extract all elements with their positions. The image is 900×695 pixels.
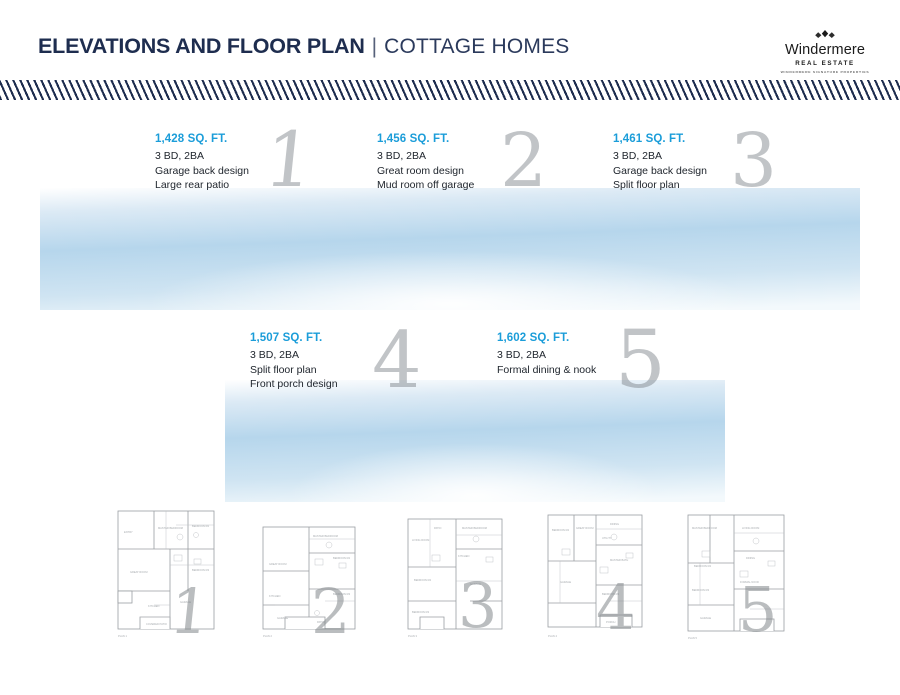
logo-name: Windermere [770, 42, 880, 58]
svg-text:PLAN 1: PLAN 1 [118, 634, 127, 638]
plan-spec-5-0: 3 BD, 2BA [497, 348, 596, 363]
svg-text:GARAGE: GARAGE [700, 616, 711, 620]
plan-info-3: 1,461 SQ. FT. 3 BD, 2BA Garage back desi… [613, 133, 707, 193]
svg-text:MASTER BEDROOM: MASTER BEDROOM [462, 526, 487, 530]
logo-tagline: WINDERMERE SIGNATURE PROPERTIES [770, 70, 880, 74]
page-header: ELEVATIONS AND FLOOR PLAN | COTTAGE HOME… [0, 0, 900, 80]
floor-plan-thumb-2[interactable]: MASTER BEDROOM BEDROOM #2 BEDROOM #3 GRE… [255, 505, 375, 645]
svg-text:BEDROOM #2: BEDROOM #2 [552, 528, 570, 532]
svg-text:PLAN 5: PLAN 5 [688, 636, 697, 640]
elevation-row-1: 1,428 SQ. FT. 3 BD, 2BA Garage back desi… [0, 110, 900, 315]
elevation-images-row-1 [40, 188, 860, 310]
svg-text:FORMAL NOOK: FORMAL NOOK [740, 580, 759, 584]
svg-text:MASTER BATH: MASTER BATH [610, 558, 628, 562]
sky-background-2 [225, 380, 725, 502]
plan-spec-2-2: Mud room off garage [377, 178, 474, 193]
floor-plan-drawing-4: BEDROOM #2 GREAT ROOM DINING UTILITY MAS… [540, 505, 660, 645]
svg-text:BEDROOM #2: BEDROOM #2 [694, 564, 712, 568]
floor-plan-drawing-5: MASTER BEDROOM LIVING ROOM BEDROOM #2 DI… [680, 505, 800, 645]
plan-spec-4-0: 3 BD, 2BA [250, 348, 338, 363]
svg-text:BEDROOM #3: BEDROOM #3 [333, 592, 351, 596]
plan-sqft-5: 1,602 SQ. FT. [497, 332, 596, 345]
svg-text:PLAN 4: PLAN 4 [548, 634, 557, 638]
sky-background [40, 188, 860, 310]
svg-text:PLAN 3: PLAN 3 [408, 634, 417, 638]
elevation-row-2: 1,507 SQ. FT. 3 BD, 2BA Split floor plan… [0, 312, 900, 507]
svg-text:UTILITY: UTILITY [602, 536, 612, 540]
page-title-bold: ELEVATIONS AND FLOOR PLAN [38, 34, 365, 59]
plan-info-5: 1,602 SQ. FT. 3 BD, 2BA Formal dining & … [497, 332, 596, 377]
plan-spec-1-0: 3 BD, 2BA [155, 149, 249, 164]
svg-text:BEDROOM #3: BEDROOM #3 [602, 592, 620, 596]
svg-text:BEDROOM #3: BEDROOM #3 [192, 568, 210, 572]
svg-text:PLAN 2: PLAN 2 [263, 634, 272, 638]
plan-spec-1-1: Garage back design [155, 164, 249, 179]
floor-plan-thumb-4[interactable]: BEDROOM #2 GREAT ROOM DINING UTILITY MAS… [540, 505, 660, 645]
plan-spec-1-2: Large rear patio [155, 178, 249, 193]
plan-info-1: 1,428 SQ. FT. 3 BD, 2BA Garage back desi… [155, 133, 249, 193]
plan-sqft-1: 1,428 SQ. FT. [155, 133, 249, 146]
svg-text:KITCHEN: KITCHEN [458, 554, 470, 558]
floor-plan-drawing-3: PATIO MASTER BEDROOM LIVING ROOM KITCHEN… [400, 505, 520, 645]
plan-spec-5-1: Formal dining & nook [497, 363, 596, 378]
svg-text:GREAT ROOM: GREAT ROOM [130, 570, 148, 574]
svg-text:DINING: DINING [610, 522, 619, 526]
svg-text:COVERED PATIO: COVERED PATIO [146, 622, 167, 626]
svg-text:GARAGE: GARAGE [560, 580, 571, 584]
page-title-light: COTTAGE HOMES [384, 35, 569, 59]
elevation-images-row-2 [225, 380, 725, 502]
plan-info-2: 1,456 SQ. FT. 3 BD, 2BA Great room desig… [377, 133, 474, 193]
plan-numeral-2: 2 [500, 124, 547, 198]
plan-spec-3-1: Garage back design [613, 164, 707, 179]
windermere-logo: Windermere REAL ESTATE WINDERMERE SIGNAT… [770, 28, 880, 74]
plan-spec-2-0: 3 BD, 2BA [377, 149, 474, 164]
svg-text:BEDROOM #2: BEDROOM #2 [333, 556, 351, 560]
svg-text:MASTER BEDROOM: MASTER BEDROOM [692, 526, 717, 530]
plan-spec-4-1: Split floor plan [250, 363, 338, 378]
floor-plan-thumb-1[interactable]: ENTRY MASTER BEDROOM BEDROOM #2 BEDROOM … [110, 505, 230, 645]
svg-text:MASTER BEDROOM: MASTER BEDROOM [313, 534, 338, 538]
plan-info-4: 1,507 SQ. FT. 3 BD, 2BA Split floor plan… [250, 332, 338, 392]
svg-text:MASTER BEDROOM: MASTER BEDROOM [158, 526, 183, 530]
floor-plan-thumb-3[interactable]: PATIO MASTER BEDROOM LIVING ROOM KITCHEN… [400, 505, 520, 645]
svg-text:BEDROOM #3: BEDROOM #3 [692, 588, 710, 592]
svg-text:GARAGE: GARAGE [277, 616, 288, 620]
page-title: ELEVATIONS AND FLOOR PLAN | COTTAGE HOME… [38, 34, 570, 59]
svg-text:PATIO: PATIO [317, 620, 324, 624]
svg-text:GARAGE: GARAGE [470, 582, 481, 586]
svg-text:BEDROOM #2: BEDROOM #2 [192, 524, 210, 528]
svg-text:GREAT ROOM: GREAT ROOM [576, 526, 594, 530]
plan-spec-2-1: Great room design [377, 164, 474, 179]
svg-text:DINING: DINING [746, 556, 755, 560]
svg-text:KITCHEN: KITCHEN [148, 604, 160, 608]
plan-spec-3-0: 3 BD, 2BA [613, 149, 707, 164]
floor-plan-drawing-1: ENTRY MASTER BEDROOM BEDROOM #2 BEDROOM … [110, 505, 230, 645]
plan-numeral-3: 3 [730, 124, 777, 198]
floor-plan-thumb-5[interactable]: MASTER BEDROOM LIVING ROOM BEDROOM #2 DI… [680, 505, 800, 645]
svg-text:LIVING ROOM: LIVING ROOM [412, 538, 429, 542]
svg-text:BEDROOM #2: BEDROOM #2 [414, 578, 432, 582]
svg-text:GARAGE: GARAGE [180, 600, 191, 604]
diagonal-hatch-band [0, 80, 900, 100]
floor-plan-drawing-2: MASTER BEDROOM BEDROOM #2 BEDROOM #3 GRE… [255, 505, 375, 645]
floor-plan-row: ENTRY MASTER BEDROOM BEDROOM #2 BEDROOM … [0, 505, 900, 655]
plan-sqft-4: 1,507 SQ. FT. [250, 332, 338, 345]
svg-text:PORCH: PORCH [606, 620, 615, 624]
svg-text:BEDROOM #3: BEDROOM #3 [412, 610, 430, 614]
plan-sqft-2: 1,456 SQ. FT. [377, 133, 474, 146]
svg-text:PATIO: PATIO [434, 526, 441, 530]
page-title-separator: | [372, 35, 377, 59]
plan-sqft-3: 1,461 SQ. FT. [613, 133, 707, 146]
plan-spec-4-2: Front porch design [250, 377, 338, 392]
svg-text:GREAT ROOM: GREAT ROOM [269, 562, 287, 566]
plan-spec-3-2: Split floor plan [613, 178, 707, 193]
windermere-diamond-icon [770, 28, 880, 41]
svg-text:LIVING ROOM: LIVING ROOM [742, 526, 759, 530]
logo-subtitle: REAL ESTATE [770, 60, 880, 67]
plan-numeral-1: 1 [261, 122, 317, 198]
svg-text:KITCHEN: KITCHEN [269, 594, 281, 598]
svg-text:ENTRY: ENTRY [124, 530, 133, 534]
